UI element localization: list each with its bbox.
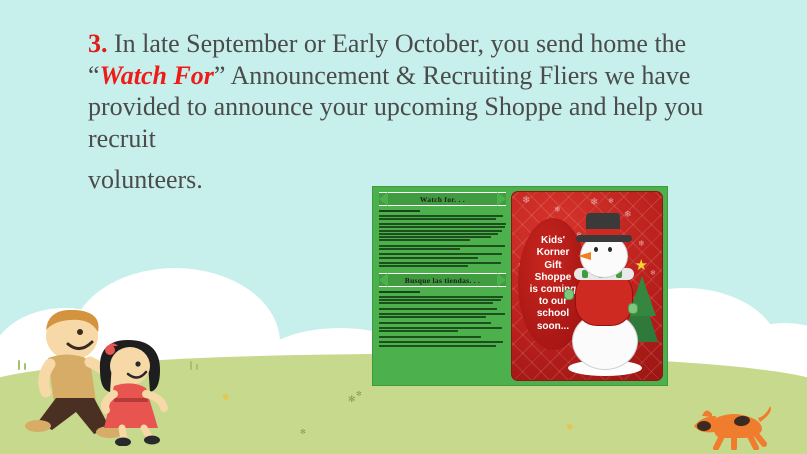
snowman-mitten [628,303,638,314]
flier-paragraph-spanish [379,336,506,338]
watch-for-flier-image: Watch for. . . [372,186,668,386]
carrot-nose-icon [578,252,591,260]
flier-paragraph-spanish [379,291,506,304]
flier-paragraph-spanish [379,341,506,346]
flier-banner-spanish: Busque las tiendas. . . [379,273,506,287]
snowflake-icon: ❄ [590,198,598,208]
flier-paragraph-spanish [379,327,506,332]
open-quote: “ [88,61,100,90]
grass-blade [190,361,192,370]
snowman-eye [594,247,598,252]
leaf-speck: ✻ [356,391,362,398]
snowman-eye [608,247,612,252]
flier-paragraph [379,223,506,241]
close-quote: ” [214,61,226,90]
flier-paragraph [379,262,506,267]
girl-character [84,336,180,446]
snowman-mitten [564,289,574,300]
butterfly-speck: ✺ [222,393,230,402]
watch-for-emphasis: Watch For [100,61,214,90]
leaf-speck: ✻ [348,395,356,404]
step-number: 3. [88,29,108,58]
star-icon: ★ [635,259,648,274]
flier-paragraph-heading [379,210,420,212]
slide-body-text: 3. In late September or Early October, y… [88,28,760,196]
body-text-part-1: In late September or Early October, you … [114,29,686,58]
flier-banner-english: Watch for. . . [379,192,506,206]
snowflake-icon: ❄ [608,198,614,205]
snowman-hat-brim [576,235,632,242]
dog-character [686,404,782,450]
grass-blade [196,364,198,370]
flier-paragraph-spanish [379,313,506,318]
slide-canvas: ✺ ✻ ✻ ✺ ✻ [0,0,807,454]
flier-text-column: Watch for. . . [373,187,511,385]
flier-banner-spanish-label: Busque las tiendas. . . [405,276,480,285]
flier-paragraph [379,253,506,258]
flier-paragraph-spanish [379,308,506,310]
flier-paragraph [379,245,506,250]
flier-poster-column: ❄ ❄ ❄ ❄ ❄ ❄ ❄ ❄ ❄ ❄ Kids' Korner Gift Sh… [511,187,667,385]
snowflake-icon: ❄ [522,196,530,206]
flier-paragraph-spanish [379,322,506,324]
butterfly-speck: ✺ [566,423,574,432]
leaf-speck: ✻ [300,429,306,436]
snowman-illustration: ★ [554,208,658,378]
snowman-poster: ❄ ❄ ❄ ❄ ❄ ❄ ❄ ❄ ❄ ❄ Kids' Korner Gift Sh… [511,191,663,381]
flier-paragraph-heading [379,291,420,293]
flier-paragraph [379,210,506,220]
flier-banner-english-label: Watch for. . . [420,195,465,204]
